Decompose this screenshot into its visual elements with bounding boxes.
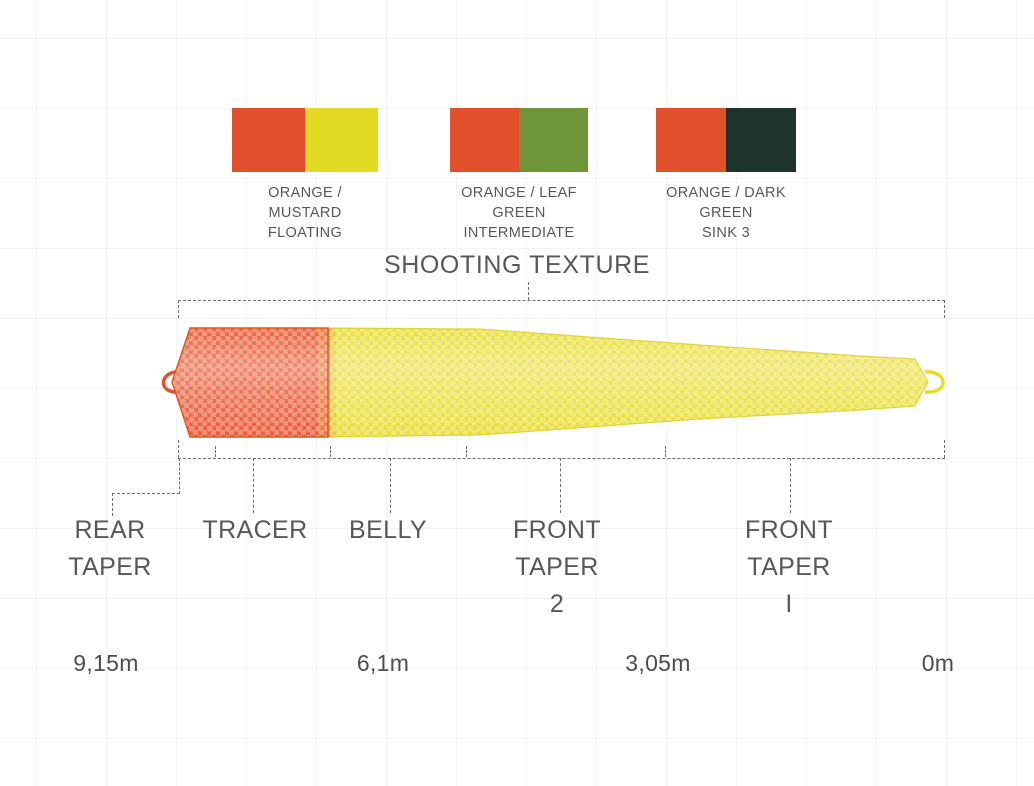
bottom-bracket-end-right — [944, 440, 945, 458]
taper-elbow-horizontal-rear-taper — [112, 493, 180, 494]
diagram-canvas: ORANGE / MUSTARD FLOATING ORANGE / LEAF … — [0, 0, 1034, 786]
distance-label-0m: 0m — [848, 650, 1028, 677]
swatch-bar — [232, 108, 378, 172]
swatch-left-half — [450, 108, 519, 172]
taper-connector-rear-taper — [179, 458, 180, 494]
swatch-label: ORANGE / DARK GREEN SINK 3 — [656, 183, 796, 243]
distance-label-3-05m: 3,05m — [568, 650, 748, 677]
orange-mustard-swatch[interactable]: ORANGE / MUSTARD FLOATING — [232, 108, 378, 243]
bracket-tick-up — [330, 446, 331, 457]
orange-dark-green-swatch[interactable]: ORANGE / DARK GREEN SINK 3 — [656, 108, 796, 243]
taper-connector-tracer — [253, 458, 254, 513]
bracket-tick-up — [466, 446, 467, 457]
taper-label-front-taper-2: FRONT TAPER 2 — [467, 512, 647, 623]
taper-label-belly: BELLY — [298, 512, 478, 549]
swatch-right-half — [726, 108, 796, 172]
bracket-tick-up — [665, 446, 666, 457]
color-legend: ORANGE / MUSTARD FLOATING ORANGE / LEAF … — [0, 108, 1034, 238]
fly-line-graphic — [0, 300, 1034, 460]
taper-connector-front-taper-2 — [560, 458, 561, 513]
taper-label-front-taper-1: FRONT TAPER I — [699, 512, 879, 623]
bottom-bracket-end-left — [178, 440, 179, 458]
swatch-left-half — [232, 108, 305, 172]
swatch-bar — [450, 108, 588, 172]
distance-label-9-15m: 9,15m — [16, 650, 196, 677]
title-connector-line — [528, 282, 529, 300]
swatch-bar — [656, 108, 796, 172]
swatch-right-half — [305, 108, 378, 172]
swatch-right-half — [519, 108, 588, 172]
orange-leaf-green-swatch[interactable]: ORANGE / LEAF GREEN INTERMEDIATE — [450, 108, 588, 243]
taper-connector-belly — [390, 458, 391, 513]
distance-label-6-1m: 6,1m — [293, 650, 473, 677]
taper-connector-front-taper-1 — [790, 458, 791, 513]
bottom-bracket-line — [178, 458, 945, 459]
bracket-tick-up — [215, 446, 216, 457]
swatch-label: ORANGE / LEAF GREEN INTERMEDIATE — [450, 183, 588, 243]
swatch-label: ORANGE / MUSTARD FLOATING — [232, 183, 378, 243]
section-title: SHOOTING TEXTURE — [0, 251, 1034, 280]
swatch-left-half — [656, 108, 726, 172]
